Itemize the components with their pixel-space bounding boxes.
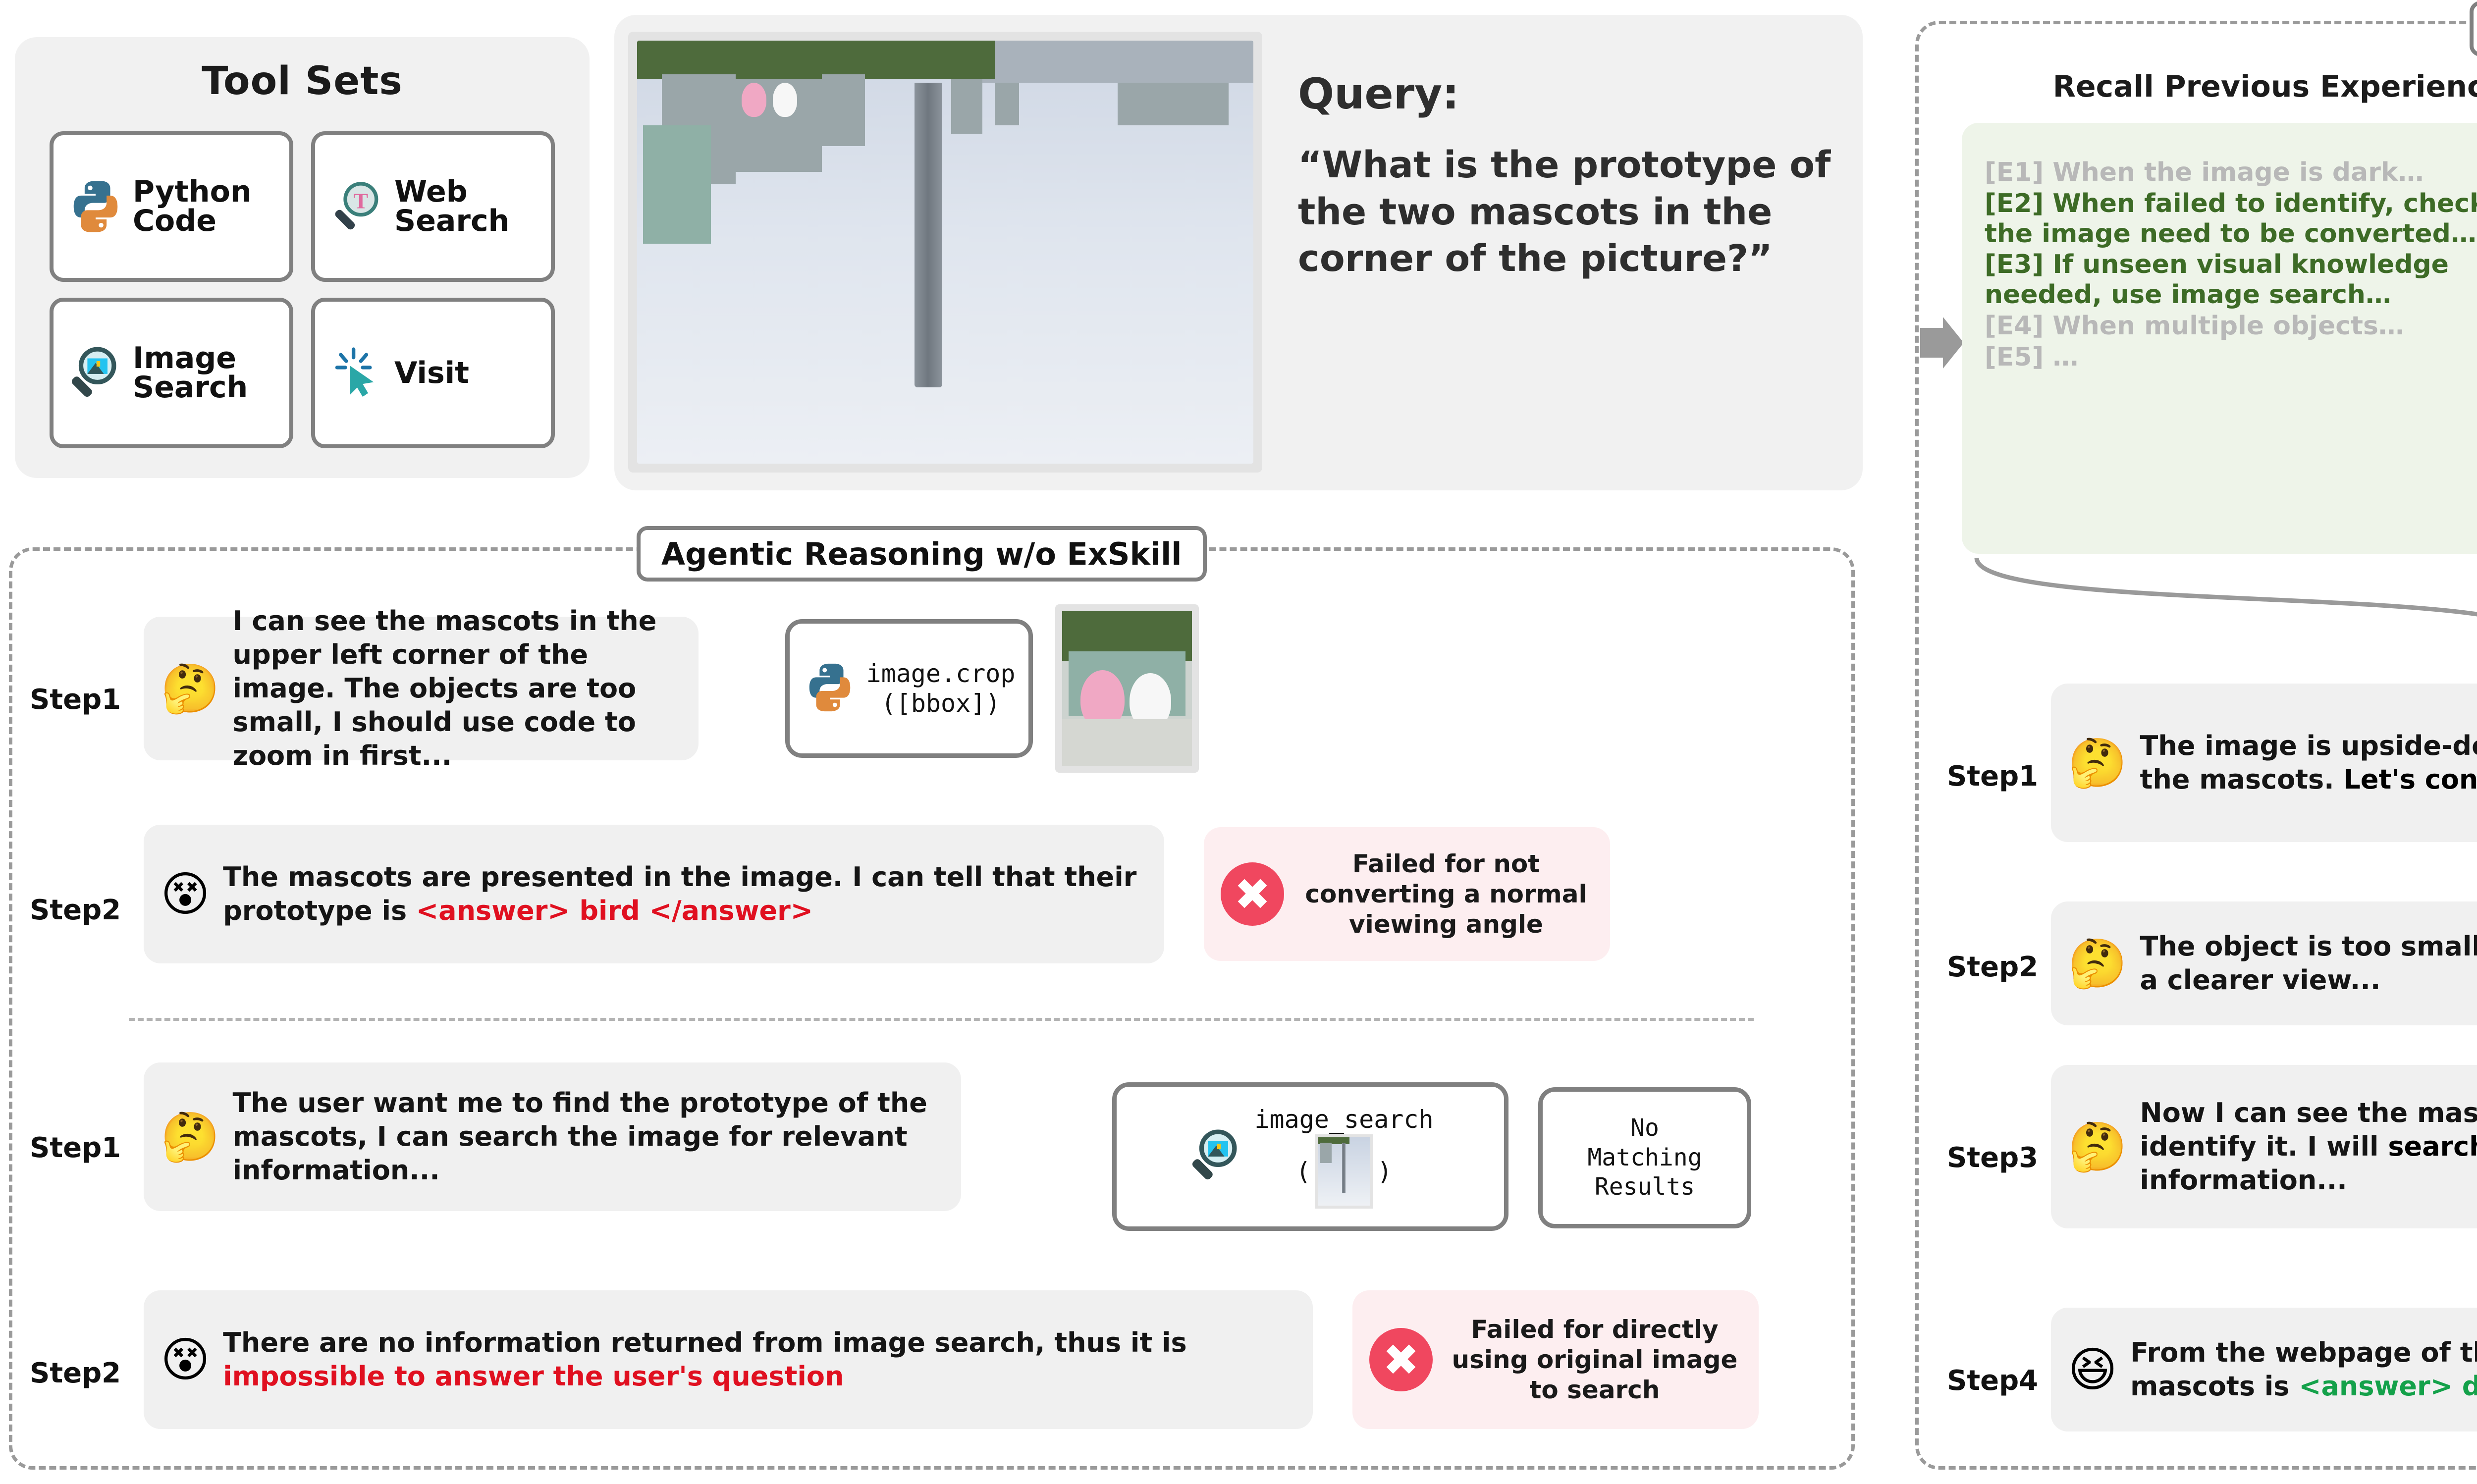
thinking-face-emoji: 🤔 (2068, 739, 2127, 787)
reasoning-bubble: 😵 There are no information returned from… (144, 1290, 1313, 1429)
cursor-click-icon (328, 344, 386, 402)
tool-card-label: Python Code (133, 177, 252, 236)
tool-card-label: Visit (394, 359, 469, 388)
step-label: Step4 (1947, 1365, 2038, 1397)
experience-item: [E1] When the image is dark… (1985, 158, 2477, 188)
reasoning-text: There are no information returned from i… (223, 1326, 1296, 1393)
connector-curve (1947, 555, 2477, 654)
thumbnail-content (1062, 611, 1192, 766)
failure-note: ✖ Failed for directly using original ima… (1352, 1290, 1759, 1429)
column-header-recall: Recall Previous Experience (1962, 69, 2477, 104)
reasoning-text: The user want me to find the prototype o… (233, 1086, 944, 1187)
experience-item: [E3] If unseen visual knowledge needed, … (1985, 250, 2477, 310)
tool-result-thumbnail (1055, 604, 1199, 773)
query-image (628, 32, 1262, 473)
step-label: Step2 (30, 894, 121, 926)
python-icon (803, 660, 857, 717)
reasoning-bubble: 🤔 The user want me to find the prototype… (144, 1062, 961, 1211)
badge-without-exskill: Agentic Reasoning w/o ExSkill (637, 526, 1207, 582)
query-image-content (637, 41, 1253, 464)
tool-arg-thumbnail (1315, 1134, 1373, 1209)
query-label: Query: (1298, 69, 1838, 119)
reasoning-text: The mascots are presented in the image. … (223, 860, 1147, 928)
reasoning-bubble: 🤔 The object is too small, I will use co… (2051, 901, 2477, 1025)
thinking-face-emoji: 🤔 (161, 665, 220, 712)
reasoning-bubble: 😵 The mascots are presented in the image… (144, 825, 1164, 963)
reasoning-text: From the webpage of the source image, I … (2130, 1336, 2477, 1403)
failure-text: Failed for not converting a normal viewi… (1299, 849, 1593, 940)
reasoning-text-bold: Let's convert it into normal view (2343, 764, 2477, 795)
recall-experience-memo: [E1] When the image is dark… [E2] When f… (1962, 123, 2477, 554)
query-text-block: Query: “What is the prototype of the two… (1298, 69, 1838, 282)
experience-item: [E4] When multiple objects… (1985, 311, 2477, 341)
tool-call-python-crop[interactable]: image.crop ([bbox]) (785, 619, 1033, 758)
web-search-icon: T (328, 177, 386, 236)
tool-card-python-code[interactable]: Python Code (50, 131, 293, 282)
thinking-face-emoji: 🤔 (2068, 1123, 2127, 1170)
tool-call-image-search[interactable]: image_search ( ) (1112, 1082, 1508, 1231)
reasoning-text-bold: search this image (2388, 1131, 2477, 1162)
step-label: Step1 (30, 1132, 121, 1164)
step-label: Step1 (30, 684, 121, 716)
no-matching-results-text: No Matching Results (1587, 1113, 1702, 1202)
tool-card-web-search[interactable]: T Web Search (311, 131, 555, 282)
step-label: Step2 (1947, 951, 2038, 983)
tool-card-label: Web Search (394, 177, 509, 236)
svg-text:T: T (354, 189, 369, 213)
laughing-face-emoji: 😆 (2068, 1346, 2117, 1393)
reasoning-text: Now I can see the mascots clearly, but I… (2140, 1096, 2477, 1197)
reasoning-bubble: 😆 From the webpage of the source image, … (2051, 1308, 2477, 1431)
reasoning-bubble: 🤔 The image is upside-down, so I can not… (2051, 684, 2477, 842)
failure-note: ✖ Failed for not converting a normal vie… (1204, 827, 1610, 961)
step-label: Step1 (1947, 760, 2038, 793)
answer-tag-red: <answer> bird </answer> (416, 895, 813, 926)
reasoning-text: I can see the mascots in the upper left … (233, 604, 682, 773)
dizzy-face-emoji: 😵 (161, 1336, 210, 1383)
answer-tag-green: <answer> dophin </answer> (2299, 1371, 2477, 1402)
thinking-face-emoji: 🤔 (2068, 940, 2127, 987)
reasoning-text-plain: The object is too small, I will (2140, 931, 2477, 962)
tool-call-label: image.crop ([bbox]) (866, 659, 1015, 718)
thinking-face-emoji: 🤔 (161, 1113, 220, 1161)
experience-item: [E2] When failed to identify, check if t… (1985, 189, 2477, 249)
failure-text: Failed for directly using original image… (1448, 1315, 1742, 1405)
experience-item: [E5] … (1985, 342, 2477, 372)
x-icon: ✖ (1221, 862, 1284, 926)
reasoning-text-plain: There are no information returned from i… (223, 1327, 1187, 1358)
reasoning-bubble: 🤔 I can see the mascots in the upper lef… (144, 617, 699, 760)
step-label: Step3 (1947, 1142, 2038, 1174)
badge-with-exskill: Agentic Reasoning with ExSkill (2470, 1, 2477, 56)
paren-open: ( (1296, 1157, 1311, 1186)
answer-highlight-red: impossible to answer the user's question (223, 1361, 844, 1392)
step-label: Step2 (30, 1357, 121, 1389)
query-body: “What is the prototype of the two mascot… (1298, 142, 1838, 282)
query-panel: Query: “What is the prototype of the two… (614, 15, 1863, 490)
tool-call-label: image_search (1254, 1105, 1433, 1134)
tool-sets-title: Tool Sets (15, 59, 590, 104)
arrow-into-recall-icon (1920, 317, 1965, 371)
reasoning-text: The image is upside-down, so I can not d… (2140, 729, 2477, 796)
no-matching-results-box: No Matching Results (1538, 1087, 1751, 1228)
x-icon: ✖ (1369, 1328, 1433, 1391)
tool-card-visit[interactable]: Visit (311, 298, 555, 448)
tool-card-image-search[interactable]: Image Search (50, 298, 293, 448)
image-search-icon (66, 344, 125, 402)
dizzy-face-emoji: 😵 (161, 870, 210, 918)
reasoning-text: The object is too small, I will use code… (2140, 930, 2477, 997)
python-icon (66, 177, 125, 236)
paren-close: ) (1377, 1157, 1392, 1186)
tool-card-label: Image Search (133, 344, 248, 402)
trial-divider (129, 1018, 1754, 1021)
tool-sets-panel: Tool Sets Python Code T (15, 37, 590, 478)
reasoning-bubble: 🤔 Now I can see the mascots clearly, but… (2051, 1065, 2477, 1228)
tool-sets-grid: Python Code T Web Search (50, 131, 555, 448)
image-search-icon (1187, 1126, 1245, 1187)
